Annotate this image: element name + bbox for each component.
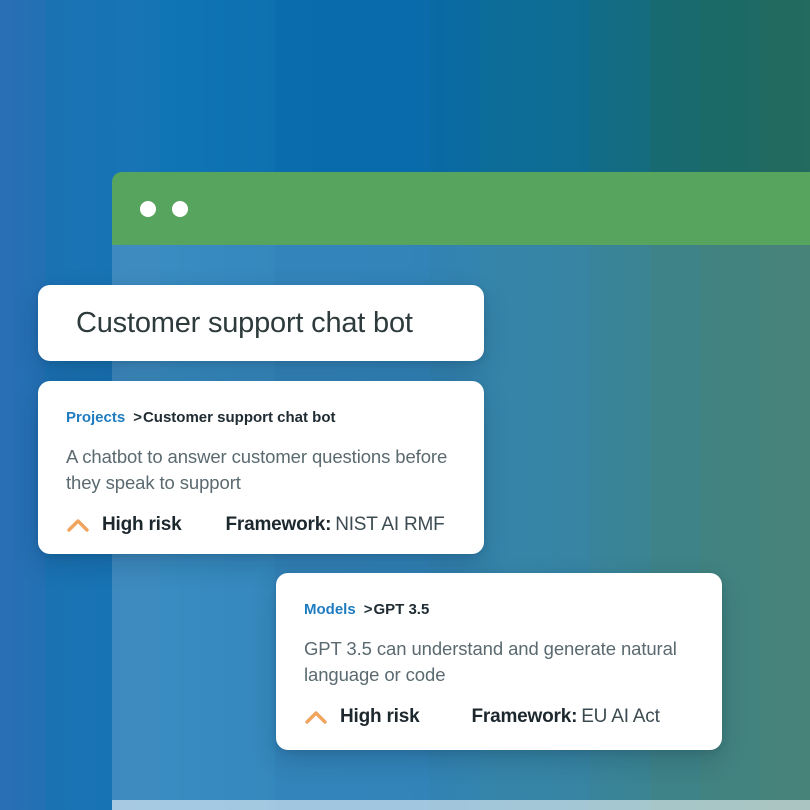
chevron-up-icon xyxy=(66,517,90,533)
screenshot-stage: Customer support chat bot Projects>Custo… xyxy=(0,0,810,810)
page-title-card: Customer support chat bot xyxy=(38,285,484,361)
window-dot-two-icon[interactable] xyxy=(172,201,188,217)
model-description: GPT 3.5 can understand and generate natu… xyxy=(304,636,694,689)
framework-block: Framework:EU AI Act xyxy=(472,706,660,728)
page-title: Customer support chat bot xyxy=(76,307,413,340)
framework-block: Framework:NIST AI RMF xyxy=(226,514,445,536)
breadcrumb-separator: > xyxy=(133,409,142,426)
chevron-up-icon xyxy=(304,709,328,725)
model-card[interactable]: Models>GPT 3.5 GPT 3.5 can understand an… xyxy=(276,573,722,750)
window-dot-one-icon[interactable] xyxy=(140,201,156,217)
framework-value: NIST AI RMF xyxy=(335,514,444,535)
breadcrumb: Projects>Customer support chat bot xyxy=(66,409,456,426)
framework-label: Framework: xyxy=(472,706,578,727)
model-meta-row: High risk Framework:EU AI Act xyxy=(304,706,694,728)
framework-value: EU AI Act xyxy=(581,706,659,727)
breadcrumb: Models>GPT 3.5 xyxy=(304,601,694,618)
project-meta-row: High risk Framework:NIST AI RMF xyxy=(66,514,456,536)
window-titlebar xyxy=(112,172,810,245)
window-controls xyxy=(140,201,188,217)
risk-level-label: High risk xyxy=(102,514,182,536)
breadcrumb-current: GPT 3.5 xyxy=(373,601,429,618)
project-description: A chatbot to answer customer questions b… xyxy=(66,444,456,497)
breadcrumb-separator: > xyxy=(364,601,373,618)
framework-label: Framework: xyxy=(226,514,332,535)
breadcrumb-link-models[interactable]: Models xyxy=(304,601,356,618)
project-card[interactable]: Projects>Customer support chat bot A cha… xyxy=(38,381,484,554)
breadcrumb-current: Customer support chat bot xyxy=(143,409,336,426)
breadcrumb-link-projects[interactable]: Projects xyxy=(66,409,125,426)
risk-level-label: High risk xyxy=(340,706,420,728)
window-footer-strip xyxy=(112,800,810,810)
